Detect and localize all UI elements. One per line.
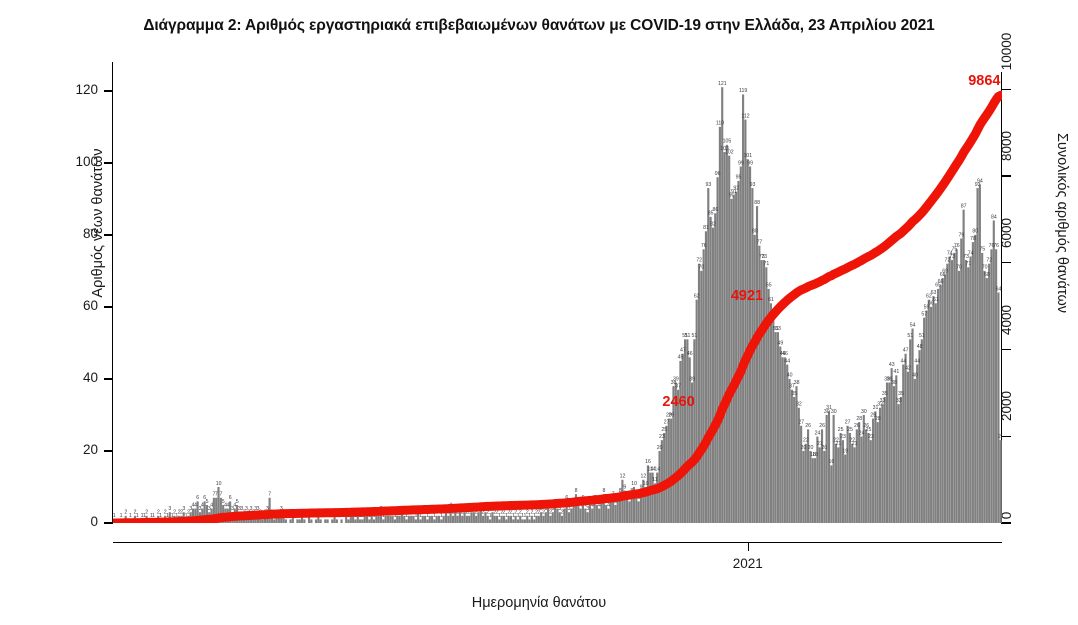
bar: [533, 519, 535, 523]
bar: [900, 397, 902, 523]
bar-value-label: 49: [777, 340, 783, 346]
bar: [921, 339, 923, 523]
bar: [819, 447, 821, 523]
bar: [1000, 440, 1002, 523]
bar: [730, 199, 732, 523]
bar: [707, 188, 709, 523]
bar-value-label: 88: [754, 200, 760, 206]
bar: [888, 383, 890, 523]
bar: [285, 519, 287, 523]
bar-value-label: 93: [750, 182, 756, 188]
bar-value-label: 5: [206, 499, 209, 505]
bar: [405, 519, 407, 523]
bar-value-label: 76: [701, 243, 707, 249]
bar-value-label: 20: [808, 445, 814, 451]
bar: [443, 516, 445, 523]
y-axis-left-title: Αριθμός νέων θανάτων: [90, 93, 106, 353]
bar: [368, 519, 370, 523]
bar-value-label: 4: [210, 502, 213, 508]
bar: [389, 516, 391, 523]
bar: [898, 404, 900, 523]
bar: [747, 159, 749, 523]
bar-value-label: 26: [819, 423, 825, 429]
bar: [610, 501, 612, 523]
bar-value-label: 25: [838, 427, 844, 433]
bar: [468, 516, 470, 523]
bar: [837, 447, 839, 523]
bar: [846, 426, 848, 523]
y-tick-label-left: 0: [38, 514, 98, 529]
bar: [262, 519, 264, 523]
bar: [828, 411, 830, 523]
bar: [528, 519, 530, 523]
bar: [805, 444, 807, 523]
bar-value-label: 11: [652, 477, 657, 483]
bar: [865, 429, 867, 523]
bar-value-label: 28: [875, 416, 881, 422]
bar-value-label: 84: [991, 214, 997, 220]
bar-value-label: 27: [664, 420, 670, 426]
bar: [600, 501, 602, 523]
bar: [770, 303, 772, 523]
bar-value-label: 29: [668, 412, 674, 418]
bar: [408, 516, 410, 523]
bar: [907, 372, 909, 523]
bar: [740, 166, 742, 523]
bar-value-label: 23: [659, 434, 665, 440]
bar: [385, 516, 387, 523]
bar: [626, 498, 628, 523]
y-tick-right: [1002, 436, 1011, 437]
bar: [299, 519, 301, 523]
bar-value-label: 35: [791, 391, 797, 397]
bar-value-label: 4: [607, 502, 610, 508]
bar: [851, 444, 853, 523]
bar: [893, 386, 895, 523]
bar: [965, 260, 967, 523]
bar: [517, 519, 519, 523]
bar-value-label: 39: [673, 376, 679, 382]
bar-value-label: 21: [835, 441, 841, 447]
bar: [315, 519, 317, 523]
bar-value-label: 57: [921, 312, 927, 318]
bar-value-label: 20: [822, 445, 828, 451]
bar-value-label: 4: [226, 502, 229, 508]
bar-value-label: 8: [575, 488, 578, 494]
bar-value-label: 32: [796, 402, 802, 408]
bar: [452, 516, 454, 523]
bar: [712, 228, 714, 523]
bar: [944, 274, 946, 523]
bar-value-label: 47: [903, 348, 909, 354]
bar: [347, 519, 349, 523]
bar: [354, 519, 356, 523]
bar-value-label: 25: [847, 427, 853, 433]
bar-value-label: 69: [942, 268, 948, 274]
y-tick-left: [104, 378, 113, 379]
bar: [429, 516, 431, 523]
bar: [932, 296, 934, 523]
bar-value-label: 40: [912, 373, 918, 379]
bar-value-label: 64: [996, 286, 1002, 292]
bar-value-label: 68: [984, 272, 990, 278]
bar: [800, 426, 802, 523]
bar-value-label: 23: [868, 434, 874, 440]
bar-value-label: 1: [489, 513, 492, 519]
bar-value-label: 5: [236, 499, 239, 505]
y-tick-left: [104, 450, 113, 451]
bar: [772, 318, 774, 523]
bar-value-label: 16: [829, 459, 835, 465]
bar: [905, 354, 907, 523]
bar: [844, 455, 846, 523]
bar: [986, 278, 988, 523]
cumulative-value-annotation: 4921: [731, 288, 763, 304]
bar-value-label: 20: [657, 445, 663, 451]
y-tick-label-left: 100: [38, 154, 98, 169]
bar: [494, 516, 496, 523]
bar: [289, 519, 291, 523]
bar: [617, 501, 619, 523]
bar-value-label: 76: [954, 243, 960, 249]
bar-value-label: 63: [931, 290, 937, 296]
bar-value-label: 18: [812, 452, 818, 458]
bar: [781, 357, 783, 523]
bar: [477, 512, 479, 523]
bar: [993, 220, 995, 523]
bar: [457, 516, 459, 523]
bar: [710, 217, 712, 523]
bar: [598, 509, 600, 523]
bar-value-label: 39: [689, 376, 695, 382]
bar: [988, 264, 990, 523]
bar: [700, 271, 702, 523]
bar-value-label: 110: [716, 121, 724, 127]
bar: [415, 519, 417, 523]
y-tick-right: [1002, 262, 1011, 263]
bar: [364, 516, 366, 523]
bar: [951, 260, 953, 523]
bar-value-label: 7: [268, 492, 271, 498]
bar: [350, 516, 352, 523]
cumulative-value-annotation: 2460: [662, 394, 694, 410]
y-tick-label-left: 80: [38, 226, 98, 241]
bar-value-label: 33: [896, 398, 902, 404]
bar: [470, 512, 472, 523]
bar: [399, 516, 401, 523]
bar: [524, 519, 526, 523]
bar: [967, 267, 969, 523]
bar-value-label: 73: [761, 254, 767, 260]
bar: [877, 422, 879, 523]
bar: [809, 451, 811, 523]
bar: [549, 516, 551, 523]
bar: [858, 422, 860, 523]
bar-value-label: 93: [705, 182, 711, 188]
bar-value-label: 6: [229, 495, 232, 501]
bar: [587, 512, 589, 523]
bar-value-label: 70: [699, 265, 705, 271]
bar-value-label: 30: [831, 409, 837, 415]
bar: [914, 379, 916, 523]
bar: [296, 519, 298, 523]
bar-value-label: 92: [733, 185, 739, 191]
bar: [375, 516, 377, 523]
bar: [382, 519, 384, 523]
bar: [874, 411, 876, 523]
bar: [466, 516, 468, 523]
bar-value-label: 94: [977, 178, 983, 184]
bar-value-label: 66: [938, 279, 944, 285]
bar: [387, 516, 389, 523]
bar: [867, 433, 869, 523]
bar: [784, 357, 786, 523]
bar-value-label: 86: [712, 207, 718, 213]
bar: [498, 519, 500, 523]
bar: [860, 437, 862, 523]
bar: [812, 458, 814, 523]
bar: [835, 444, 837, 523]
y-axis-right-title: Συνολικός αριθμός θανάτων: [1054, 93, 1070, 353]
bar: [361, 519, 363, 523]
bar: [717, 177, 719, 523]
bar: [814, 458, 816, 523]
bar: [668, 419, 670, 523]
bar: [791, 390, 793, 523]
y-tick-label-left: 40: [38, 370, 98, 385]
bar-value-label: 43: [889, 362, 895, 368]
bar-value-label: 8: [602, 488, 605, 494]
bar: [475, 516, 477, 523]
bar: [997, 293, 999, 524]
bar-value-label: 2: [145, 510, 148, 516]
bar-value-label: 45: [678, 355, 684, 361]
bar-value-label: 19: [842, 448, 848, 454]
bar: [324, 519, 326, 523]
bar-value-label: 10: [643, 481, 649, 487]
bar-value-label: 82: [710, 221, 716, 227]
bar: [568, 512, 570, 523]
bar: [816, 437, 818, 523]
bar-value-label: 99: [747, 160, 753, 166]
x-axis-line: [113, 542, 1002, 543]
bar: [823, 451, 825, 523]
bar: [826, 415, 828, 523]
bar-value-label: 119: [739, 88, 747, 94]
bar: [735, 192, 737, 523]
x-tick: [748, 542, 749, 551]
bar: [990, 249, 992, 523]
bar: [552, 512, 554, 523]
bar-value-label: 10: [216, 481, 222, 487]
bar: [419, 519, 421, 523]
bar: [721, 87, 723, 523]
chart-svg: 1121211121121213121223123446346534771075…: [113, 62, 1002, 523]
bar-value-label: 30: [861, 409, 867, 415]
bar: [923, 318, 925, 523]
bar: [935, 303, 937, 523]
bar-value-label: 41: [893, 369, 899, 375]
bar: [972, 242, 974, 523]
bar: [765, 267, 767, 523]
bar-value-label: 44: [914, 358, 920, 364]
bar: [777, 332, 779, 523]
bar: [373, 519, 375, 523]
y-tick-right: [1002, 89, 1011, 90]
bar-value-label: 37: [675, 384, 681, 390]
bar-value-label: 46: [782, 351, 788, 357]
y-tick-right: [1002, 175, 1011, 176]
bar-series: [113, 87, 1002, 523]
bar: [327, 519, 329, 523]
bar-value-label: 81: [703, 225, 709, 231]
bar-value-label: 1: [113, 513, 116, 519]
bar-value-label: 70: [956, 265, 962, 271]
bar: [756, 206, 758, 523]
bar: [705, 231, 707, 523]
bar: [396, 516, 398, 523]
bar: [591, 509, 593, 523]
bar: [693, 339, 695, 523]
bar: [870, 440, 872, 523]
bar-value-label: 3: [168, 506, 171, 512]
bar-value-label: 77: [757, 239, 763, 245]
bar-value-label: 53: [775, 326, 781, 332]
bar: [953, 253, 955, 523]
bar: [310, 519, 312, 523]
plot-area: 1121211121121213121223123446346534771075…: [113, 62, 1002, 523]
bar: [930, 307, 932, 523]
y-tick-right: [1002, 522, 1011, 523]
bar: [976, 188, 978, 523]
bar-value-label: 35: [882, 391, 888, 397]
bar-value-label: 70: [982, 265, 988, 271]
bar: [956, 249, 958, 523]
bar-value-label: 27: [845, 420, 851, 426]
x-axis-title: Ημερομηνία θανάτου: [0, 595, 1078, 611]
y-tick-right: [1002, 349, 1011, 350]
bar: [682, 354, 684, 523]
bar-value-label: 7: [219, 492, 222, 498]
bar: [733, 195, 735, 523]
bar: [447, 516, 449, 523]
bar: [958, 271, 960, 523]
bar: [942, 278, 944, 523]
bar: [902, 365, 904, 523]
bar: [686, 339, 688, 523]
bar-value-label: 25: [661, 427, 667, 433]
bar-value-label: 62: [694, 294, 700, 300]
bar-value-label: 65: [766, 283, 772, 289]
bar: [775, 332, 777, 523]
bar: [698, 264, 700, 523]
bar: [359, 519, 361, 523]
bar-value-label: 112: [741, 113, 749, 119]
bar-value-label: 74: [968, 250, 974, 256]
bar-value-label: 71: [965, 261, 971, 267]
bar-value-label: 121: [718, 81, 727, 87]
bar: [719, 127, 721, 523]
bar: [628, 501, 630, 523]
bar: [916, 365, 918, 523]
bar-value-label: 73: [949, 254, 955, 260]
bar-value-label: 105: [723, 139, 732, 145]
bar-value-label: 22: [803, 438, 809, 444]
bar: [522, 519, 524, 523]
bar-value-label: 47: [680, 348, 686, 354]
bar: [426, 519, 428, 523]
bar-value-label: 24: [815, 430, 821, 436]
bar-value-label: 21: [852, 441, 858, 447]
bar: [580, 509, 582, 523]
bar-value-label: 96: [715, 171, 721, 177]
bar: [422, 516, 424, 523]
bar-value-label: 14: [654, 466, 660, 472]
bar-value-label: 2: [561, 510, 564, 516]
bar: [793, 397, 795, 523]
chart-container: Διάγραμμα 2: Αριθμός εργαστηριακά επιβεβ…: [0, 0, 1078, 625]
bar: [336, 519, 338, 523]
bar-value-label: 3: [182, 506, 185, 512]
bar-value-label: 99: [738, 160, 744, 166]
bar-value-label: 61: [768, 297, 774, 303]
bar-value-label: 16: [645, 459, 651, 465]
bar: [886, 383, 888, 523]
bar-value-label: 20: [801, 445, 807, 451]
bar: [939, 285, 941, 523]
x-tick-label: 2021: [708, 556, 788, 571]
bar-value-label: 54: [910, 322, 916, 328]
bar-value-label: 3: [586, 506, 589, 512]
bar-value-label: 23: [840, 434, 846, 440]
bar-value-label: 12: [620, 474, 626, 480]
bar: [726, 145, 728, 523]
bar: [665, 426, 667, 523]
bar-value-label: 25: [866, 427, 872, 433]
bar-value-label: 61: [933, 297, 939, 303]
bar: [830, 465, 832, 523]
bar-value-label: 71: [764, 261, 770, 267]
bar-value-label: 101: [744, 153, 753, 159]
y-tick-label-left: 120: [38, 82, 98, 97]
bar: [508, 516, 510, 523]
bar: [918, 350, 920, 523]
bar: [440, 519, 442, 523]
bar: [970, 256, 972, 523]
bar-value-label: 75: [979, 247, 985, 253]
bar: [937, 289, 939, 523]
chart-title: Διάγραμμα 2: Αριθμός εργαστηριακά επιβεβ…: [0, 17, 1078, 35]
bar: [949, 256, 951, 523]
bar: [981, 253, 983, 523]
bar: [501, 516, 503, 523]
bar: [891, 368, 893, 523]
bar-value-label: 33: [880, 398, 886, 404]
bar-value-label: 80: [972, 229, 978, 235]
bar: [663, 433, 665, 523]
bar: [853, 447, 855, 523]
bar: [946, 264, 948, 523]
bar-value-label: 6: [196, 495, 199, 501]
bar: [925, 311, 927, 523]
bar-value-label: 51: [919, 333, 925, 339]
bar: [433, 519, 435, 523]
bar-value-label: 10: [631, 481, 637, 487]
bar: [482, 516, 484, 523]
bar: [737, 181, 739, 523]
bar: [960, 238, 962, 523]
bar-value-label: 72: [986, 257, 992, 263]
